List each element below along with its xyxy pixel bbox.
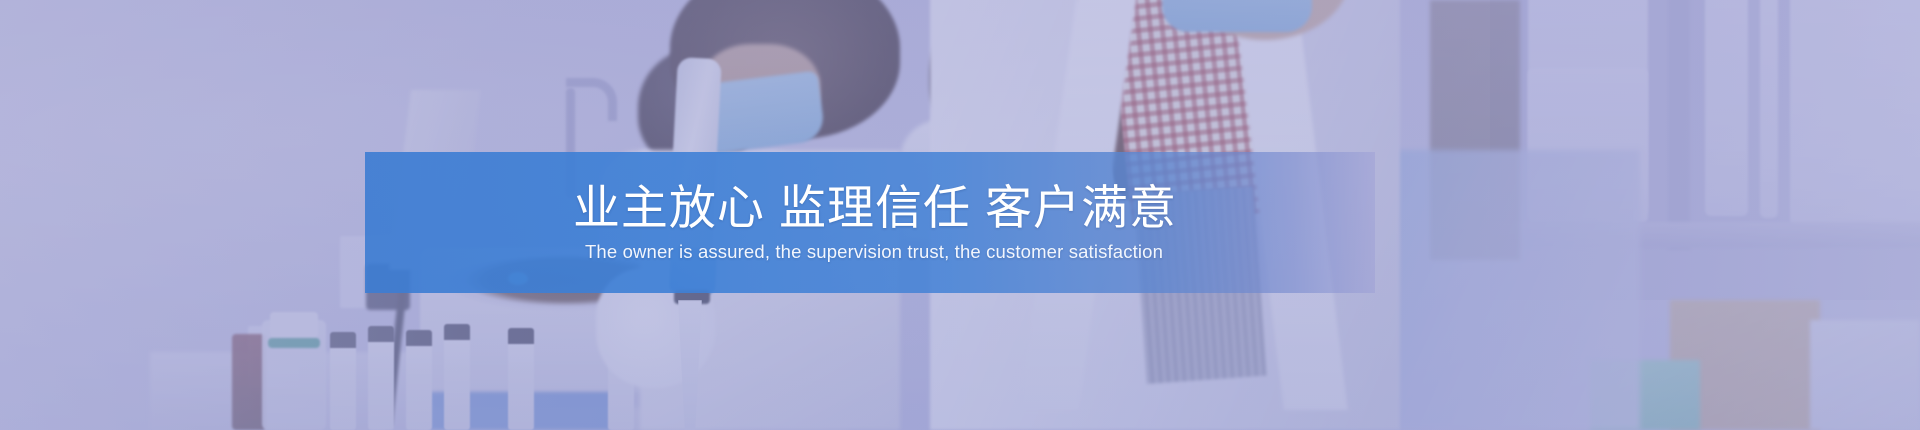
sample-vial bbox=[444, 324, 470, 430]
bottle-ring bbox=[268, 338, 320, 348]
sample-vial bbox=[330, 332, 356, 430]
sample-vial bbox=[406, 330, 432, 430]
faucet-neck bbox=[566, 78, 617, 121]
slogan-chinese: 业主放心 监理信任 客户满意 bbox=[563, 184, 1177, 231]
slogan-strip-inner: 业主放心 监理信任 客户满意 The owner is assured, the… bbox=[365, 152, 1375, 293]
sample-vial bbox=[368, 326, 394, 430]
window-mullion bbox=[1668, 0, 1690, 250]
window-pane bbox=[1760, 0, 1778, 218]
doctor-face-mask bbox=[1162, 0, 1312, 32]
window-pane bbox=[1790, 0, 1920, 226]
window-pane bbox=[1705, 0, 1748, 216]
sample-vial bbox=[508, 328, 534, 430]
storage-box bbox=[1810, 320, 1920, 430]
slogan-english: The owner is assured, the supervision tr… bbox=[577, 243, 1163, 262]
slogan-strip: 业主放心 监理信任 客户满意 The owner is assured, the… bbox=[365, 152, 1375, 293]
bottle-cap bbox=[270, 312, 318, 338]
reagent-bottle-dark bbox=[232, 334, 266, 430]
hero-banner: 业主放心 监理信任 客户满意 The owner is assured, the… bbox=[0, 0, 1920, 430]
